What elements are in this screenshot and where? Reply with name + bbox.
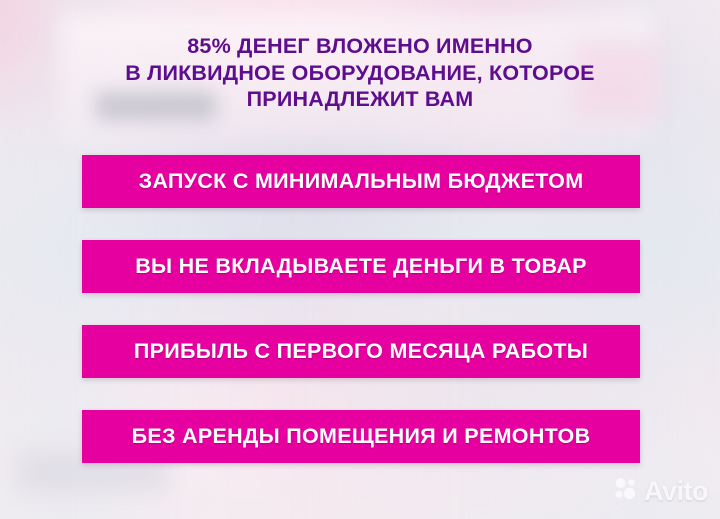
benefit-bar-label: ВЫ НЕ ВКЛАДЫВАЕТЕ ДЕНЬГИ В ТОВАР — [82, 254, 640, 279]
headline-line-2: В ЛИКВИДНОЕ ОБОРУДОВАНИЕ, КОТОРОЕ — [0, 60, 720, 87]
benefit-bar-label: ПРИБЫЛЬ С ПЕРВОГО МЕСЯЦА РАБОТЫ — [82, 339, 640, 364]
promo-banner: 85% ДЕНЕГ ВЛОЖЕНО ИМЕННО В ЛИКВИДНОЕ ОБО… — [0, 0, 720, 519]
benefit-bar: ПРИБЫЛЬ С ПЕРВОГО МЕСЯЦА РАБОТЫ — [82, 325, 640, 378]
benefit-bar-label: ЗАПУСК С МИНИМАЛЬНЫМ БЮДЖЕТОМ — [82, 169, 640, 194]
avito-watermark: Avito — [613, 476, 708, 507]
headline: 85% ДЕНЕГ ВЛОЖЕНО ИМЕННО В ЛИКВИДНОЕ ОБО… — [0, 33, 720, 113]
headline-line-1: 85% ДЕНЕГ ВЛОЖЕНО ИМЕННО — [0, 33, 720, 60]
benefit-bar-label: БЕЗ АРЕНДЫ ПОМЕЩЕНИЯ И РЕМОНТОВ — [82, 424, 640, 449]
avito-dots-icon — [613, 476, 639, 507]
benefit-bar: ВЫ НЕ ВКЛАДЫВАЕТЕ ДЕНЬГИ В ТОВАР — [82, 240, 640, 293]
benefit-bar: ЗАПУСК С МИНИМАЛЬНЫМ БЮДЖЕТОМ — [82, 155, 640, 208]
benefit-bar: БЕЗ АРЕНДЫ ПОМЕЩЕНИЯ И РЕМОНТОВ — [82, 410, 640, 463]
benefit-bar-list: ЗАПУСК С МИНИМАЛЬНЫМ БЮДЖЕТОМ ВЫ НЕ ВКЛА… — [82, 155, 640, 463]
headline-line-3: ПРИНАДЛЕЖИТ ВАМ — [0, 86, 720, 113]
avito-wordmark: Avito — [644, 478, 708, 505]
